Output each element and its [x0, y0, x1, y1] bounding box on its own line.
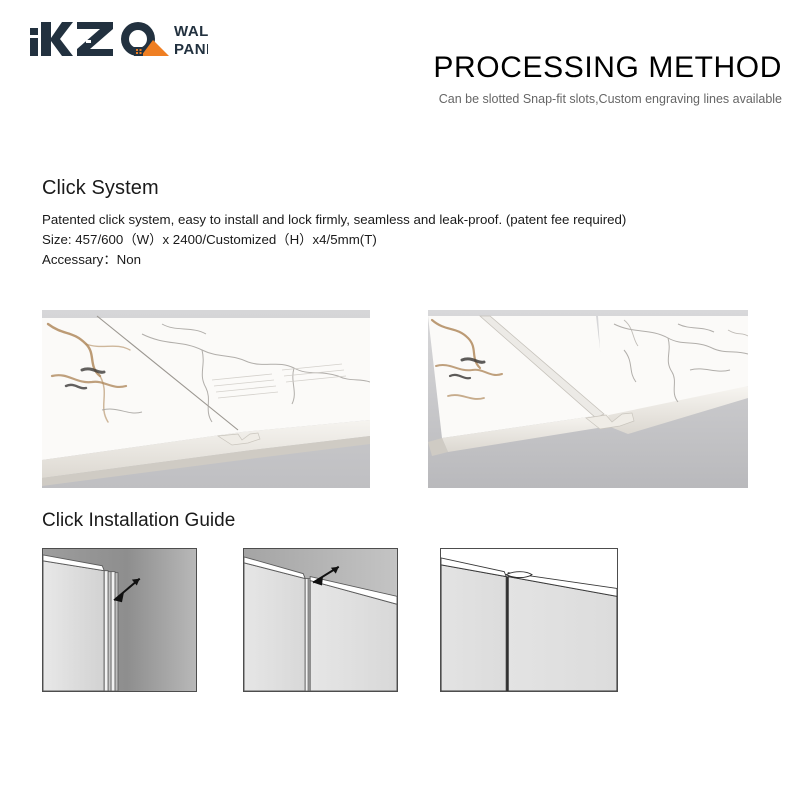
installation-diagram-joined: [440, 548, 618, 692]
click-panel-photo-right: [428, 310, 748, 488]
product-photo-row: [0, 310, 800, 488]
click-system-line-2: Size: 457/600（W）x 2400/Customized（H）x4/5…: [42, 230, 772, 250]
installation-diagram-row: Groove: [0, 548, 800, 698]
page-title: PROCESSING METHOD: [162, 52, 782, 84]
installation-diagram-groove: [42, 548, 197, 692]
processing-method-page: WALL PANEL PROCESSING METHOD Can be slot…: [0, 0, 800, 800]
page-subtitle: Can be slotted Snap-fit slots,Custom eng…: [162, 92, 782, 107]
click-system-section: Click System Patented click system, easy…: [42, 176, 772, 270]
click-system-line-1: Patented click system, easy to install a…: [42, 210, 772, 230]
click-system-line-3: Accessary：Non: [42, 250, 772, 270]
click-system-description: Patented click system, easy to install a…: [42, 210, 772, 270]
installation-diagram-tongue: [243, 548, 398, 692]
installation-guide-section: Click Installation Guide: [42, 509, 235, 533]
click-system-heading: Click System: [42, 176, 772, 201]
logo-wall-text: WALL: [174, 23, 208, 40]
installation-guide-heading: Click Installation Guide: [42, 509, 235, 533]
header-title-block: PROCESSING METHOD Can be slotted Snap-fi…: [162, 52, 782, 107]
click-panel-photo-left: [42, 310, 370, 488]
page-header: WALL PANEL PROCESSING METHOD Can be slot…: [0, 0, 800, 140]
